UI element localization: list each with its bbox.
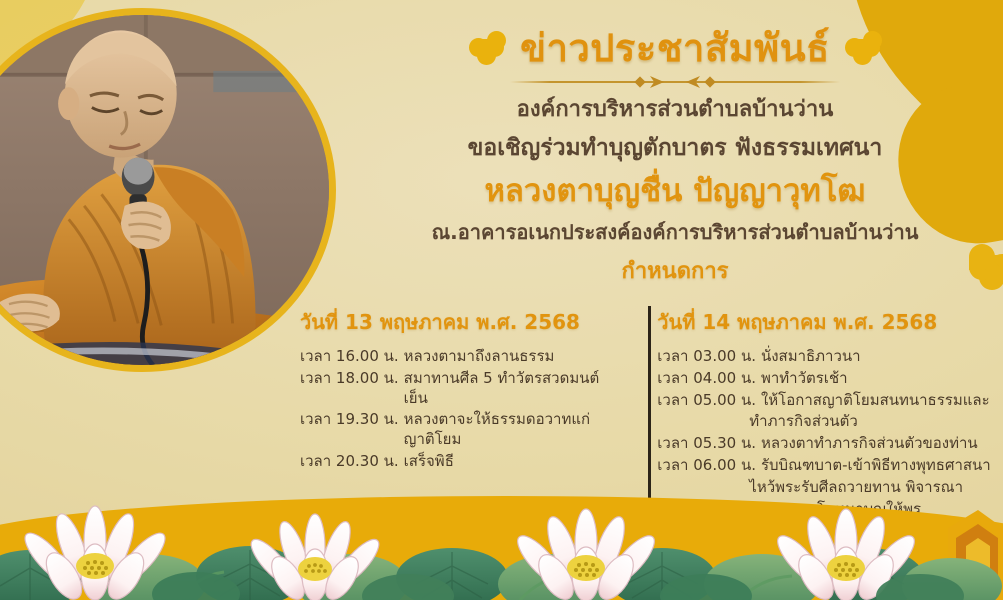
schedule-item-time: เวลา 19.30 น.: [300, 410, 399, 450]
schedule-item-time: เวลา 16.00 น.: [300, 347, 399, 367]
title-underline-flourish: [510, 76, 840, 88]
schedule-item: เวลา 03.00 น.นั่งสมาธิภาวนา: [657, 347, 1000, 367]
quatrefoil-ornament-edge-icon: [969, 244, 1003, 290]
bottom-lotus-band: [0, 480, 1003, 600]
schedule-date-day1: วันที่ 13 พฤษภาคม พ.ศ. 2568: [300, 306, 621, 338]
page-title: ข่าวประชาสัมพันธ์: [520, 29, 830, 67]
schedule-item: เวลา 05.00 น.ให้โอกาสญาติโยมสนทนาธรรมและ: [657, 391, 1000, 411]
schedule-item-description: หลวงตาทำภารกิจส่วนตัวของท่าน: [761, 434, 978, 454]
invitation-text: ขอเชิญร่วมทำบุญตักบาตร ฟังธรรมเทศนา: [350, 132, 1000, 165]
schedule-item-time: เวลา 05.00 น.: [657, 391, 756, 411]
schedule-item-description: พาทำวัตรเช้า: [761, 369, 848, 389]
schedule-item: เวลา 06.00 น.รับบิณฑบาต-เข้าพิธีทางพุทธศ…: [657, 456, 1000, 476]
agenda-label: กำหนดการ: [350, 253, 1000, 288]
lotus-illustration: [0, 480, 1003, 600]
monk-photo: [0, 8, 336, 372]
schedule-item: เวลา 04.00 น.พาทำวัตรเช้า: [657, 369, 1000, 389]
schedule-item-time: เวลา 04.00 น.: [657, 369, 756, 389]
schedule-item-time: เวลา 05.30 น.: [657, 434, 756, 454]
venue-text: ณ.อาคารอเนกประสงค์องค์การบริหารส่วนตำบลบ…: [350, 218, 1000, 246]
schedule-item-description: ให้โอกาสญาติโยมสนทนาธรรมและ: [761, 391, 990, 411]
schedule-item: เวลา 19.30 น.หลวงตาจะให้ธรรมดอวาทแก่ญาติ…: [300, 410, 621, 450]
poster-canvas: ข่าวประชาสัมพันธ์ องค์การบริหารส่วนตำบลบ…: [0, 0, 1003, 600]
schedule-item-description: เสร็จพิธี: [404, 452, 454, 472]
quatrefoil-ornament-left-icon: [470, 31, 504, 65]
monk-name: หลวงตาบุญชื่น ปัญญาวุทโฒ: [350, 174, 1000, 210]
title-row: ข่าวประชาสัมพันธ์: [350, 22, 1000, 74]
schedule-item: เวลา 16.00 น.หลวงตามาถึงลานธรรม: [300, 347, 621, 367]
schedule-item-time: เวลา 06.00 น.: [657, 456, 756, 476]
organization-name: องค์การบริหารส่วนตำบลบ้านว่าน: [350, 94, 1000, 125]
schedule-item-description: หลวงตาจะให้ธรรมดอวาทแก่ญาติโยม: [404, 410, 622, 450]
schedule-item: เวลา 20.30 น.เสร็จพิธี: [300, 452, 621, 472]
photo-gold-ring: [0, 8, 336, 372]
schedule-item: เวลา 18.00 น.สมาทานศีล 5 ทำวัตรสวดมนต์เย…: [300, 369, 621, 409]
monk-portrait-illustration: [0, 15, 329, 366]
schedule-item-time: เวลา 03.00 น.: [657, 347, 756, 367]
quatrefoil-ornament-right-icon: [846, 31, 880, 65]
schedule-item: เวลา 05.30 น.หลวงตาทำภารกิจส่วนตัวของท่า…: [657, 434, 1000, 454]
schedule-item-time: เวลา 18.00 น.: [300, 369, 399, 409]
header-block: ข่าวประชาสัมพันธ์ องค์การบริหารส่วนตำบลบ…: [350, 22, 1000, 288]
schedule-item-description: นั่งสมาธิภาวนา: [761, 347, 861, 367]
schedule-item-time: เวลา 20.30 น.: [300, 452, 399, 472]
schedule-date-day2: วันที่ 14 พฤษภาคม พ.ศ. 2568: [657, 306, 1000, 338]
schedule-item-description: หลวงตามาถึงลานธรรม: [404, 347, 555, 367]
schedule-item-description: สมาทานศีล 5 ทำวัตรสวดมนต์เย็น: [404, 369, 622, 409]
schedule-items-day1: เวลา 16.00 น.หลวงตามาถึงลานธรรมเวลา 18.0…: [300, 347, 621, 472]
schedule-item-continuation: ทำภารกิจส่วนตัว: [657, 412, 1000, 432]
schedule-item-description: รับบิณฑบาต-เข้าพิธีทางพุทธศาสนา: [761, 456, 991, 476]
